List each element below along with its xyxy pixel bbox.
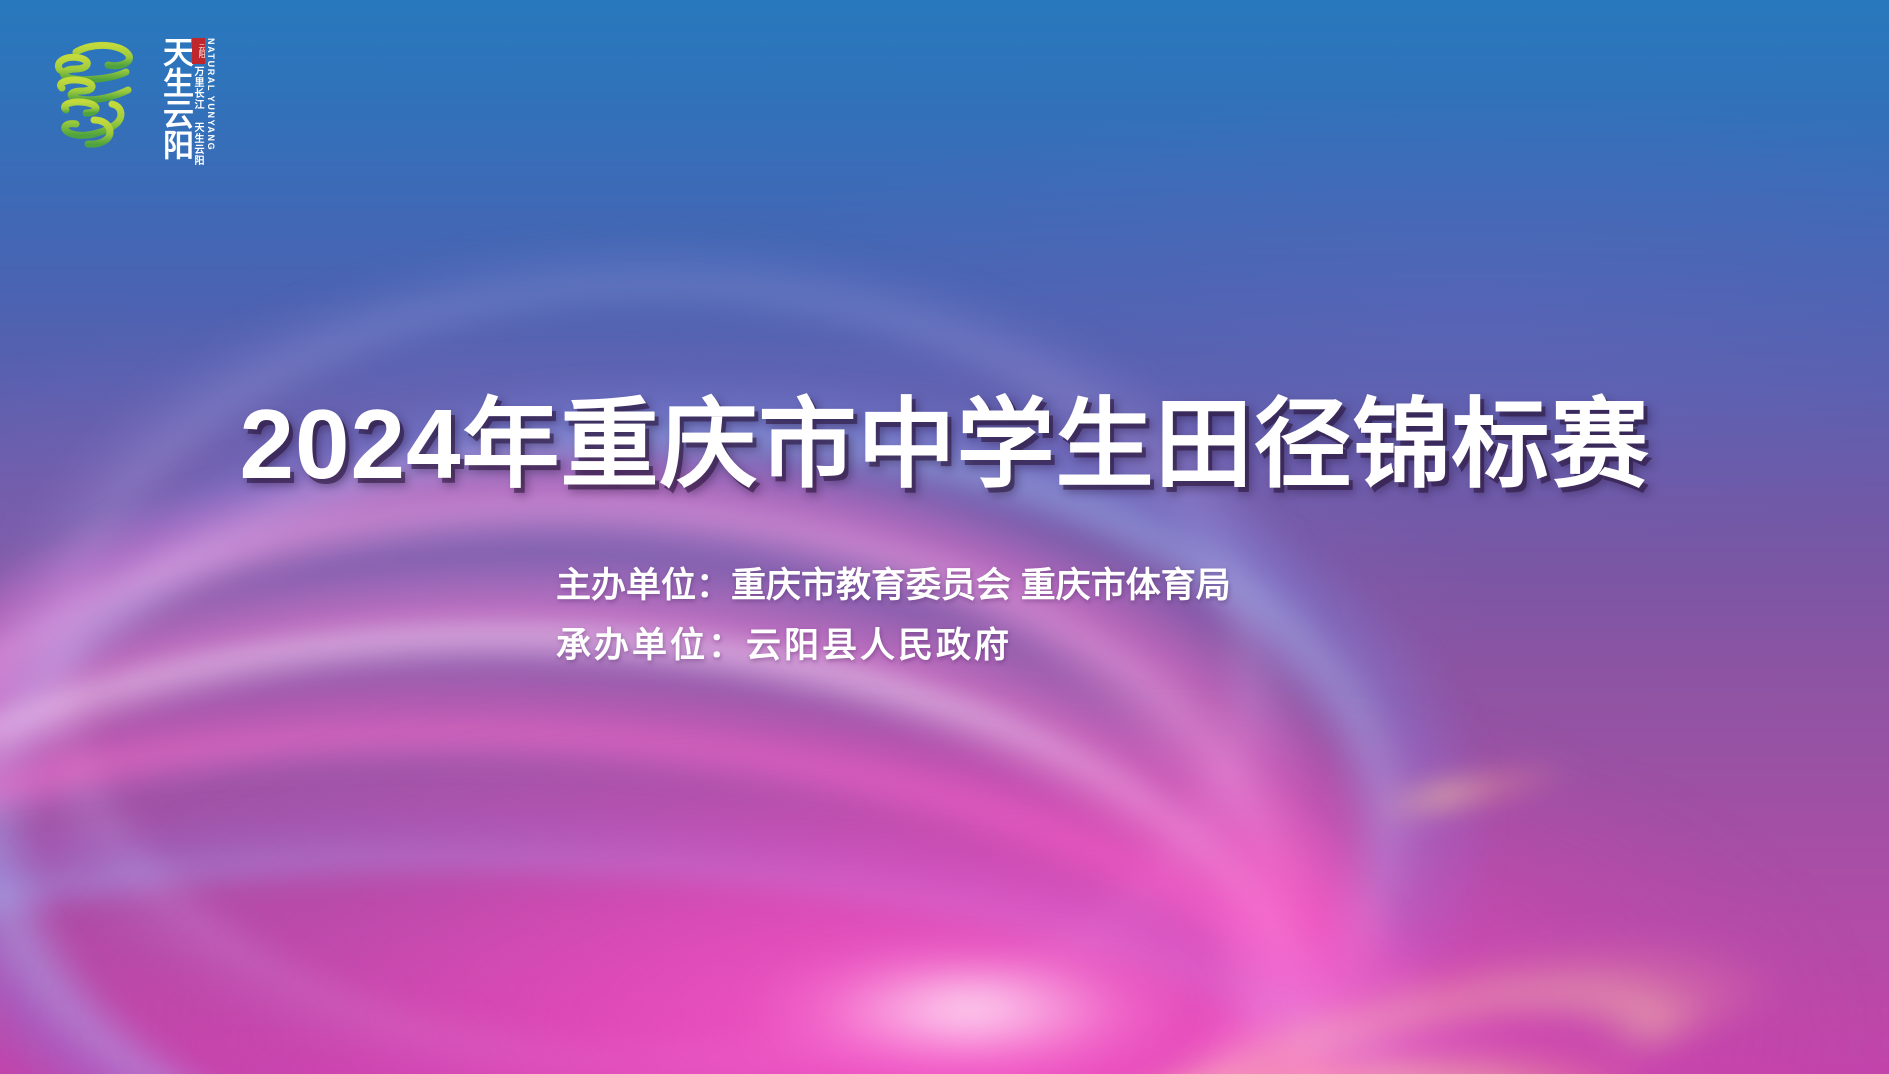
logo-brand-en: NATURAL YUNYANG [206,38,216,150]
yunyang-logo: 天生云阳 云阳 NATURAL YUNYANG 万里长江 天生云阳 [36,22,220,152]
background-light-streaks [0,0,1889,1074]
yunyang-cloud-logo-icon [36,28,140,148]
logo-seal-stamp: 云阳 [192,38,205,64]
page-title: 2024年重庆市中学生田径锦标赛 [0,392,1889,498]
logo-brand-sub: 万里长江 天生云阳 [190,66,205,150]
logo-text-block: 天生云阳 云阳 NATURAL YUNYANG 万里长江 天生云阳 [140,36,220,152]
organizer-undertaker-line: 承办单位：云阳县人民政府 [556,616,1231,676]
logo-brand-cn: 天生云阳 [146,36,190,152]
poster-canvas: 天生云阳 云阳 NATURAL YUNYANG 万里长江 天生云阳 2024年重… [0,0,1889,1074]
center-glow-node [760,945,1180,1074]
organizer-host-line: 主办单位：重庆市教育委员会 重庆市体育局 [556,556,1231,616]
organizer-block: 主办单位：重庆市教育委员会 重庆市体育局 承办单位：云阳县人民政府 [556,556,1231,676]
